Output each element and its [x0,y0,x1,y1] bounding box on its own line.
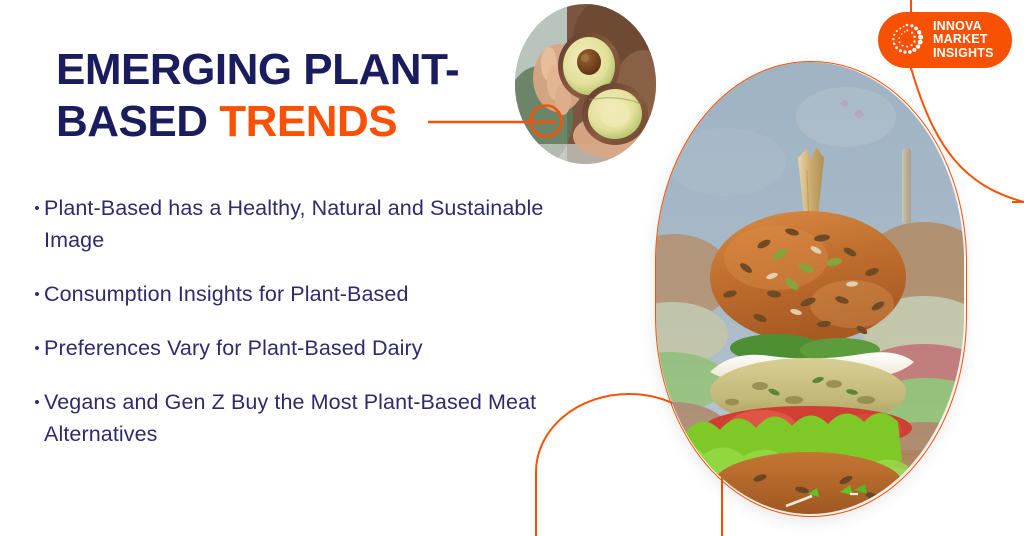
title-line-2: BASED TRENDS [56,96,576,148]
logo-line-1: INNOVA [933,20,1012,34]
bullet-marker-icon: • [30,395,44,410]
bullet-text: Preferences Vary for Plant-Based Dairy [44,332,590,364]
list-item: • Vegans and Gen Z Buy the Most Plant-Ba… [30,386,590,450]
bullet-marker-icon: • [30,201,44,216]
title-line-2-plain: BASED [56,97,219,146]
title-line-1: EMERGING PLANT- [56,44,576,96]
slide-canvas: EMERGING PLANT- BASED TRENDS • Plant-Bas… [0,0,1024,536]
bullet-text: Consumption Insights for Plant-Based [44,278,590,310]
burger-photo-art [656,62,964,514]
plant-based-burger-photo [656,62,964,514]
bullet-marker-icon: • [30,287,44,302]
logo-line-3: INSIGHTS [933,47,1012,61]
list-item: • Preferences Vary for Plant-Based Dairy [30,332,590,364]
logo-wordmark: INNOVA MARKET INSIGHTS [933,20,1012,61]
list-item: • Plant-Based has a Healthy, Natural and… [30,192,590,256]
list-item: • Consumption Insights for Plant-Based [30,278,590,310]
title-line-2-accent: TRENDS [219,97,397,146]
logo-line-2: MARKET [933,33,1012,47]
bullet-list: • Plant-Based has a Healthy, Natural and… [30,192,590,472]
bullet-text: Vegans and Gen Z Buy the Most Plant-Base… [44,386,590,450]
bullet-marker-icon: • [30,341,44,356]
bullet-text: Plant-Based has a Healthy, Natural and S… [44,192,590,256]
page-title: EMERGING PLANT- BASED TRENDS [56,44,576,148]
dot-ring-icon [887,20,927,60]
innova-market-insights-logo[interactable]: INNOVA MARKET INSIGHTS [878,12,1012,68]
